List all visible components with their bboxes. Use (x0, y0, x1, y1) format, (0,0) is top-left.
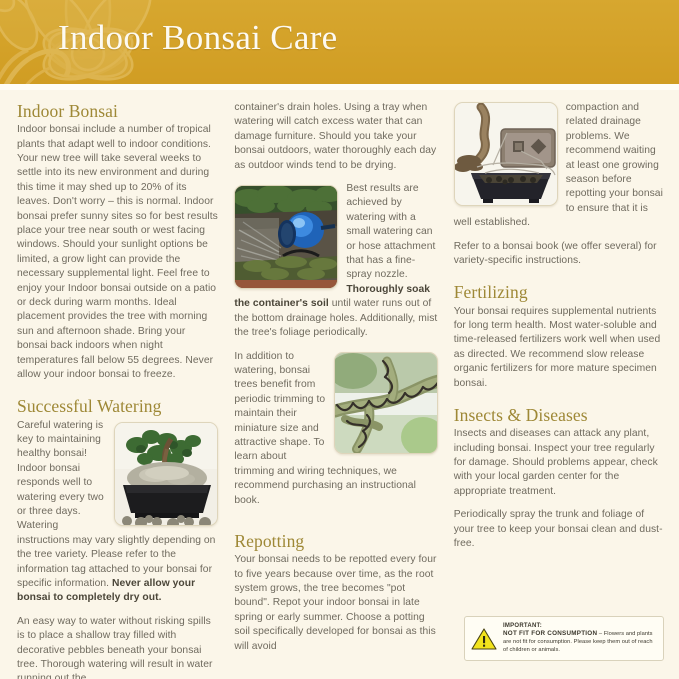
paragraph-indoor-bonsai: Indoor bonsai include a number of tropic… (17, 123, 218, 382)
heading-successful-watering: Successful Watering (17, 396, 218, 416)
paragraph-watering-tray: An easy way to water without risking spi… (17, 615, 218, 679)
bonsai-care-page: Indoor Bonsai Care Indoor Bonsai Indoor … (0, 0, 679, 679)
middle-column: container's drain holes. Using a tray wh… (234, 101, 437, 663)
paragraph-refer-book: Refer to a bonsai book (we offer several… (454, 240, 665, 269)
left-column: Indoor Bonsai Indoor bonsai include a nu… (17, 101, 218, 679)
photo-pot-drainage-diagram (454, 102, 558, 206)
heading-fertilizing: Fertilizing (454, 282, 665, 302)
heading-repotting: Repotting (234, 531, 437, 551)
page-header: Indoor Bonsai Care (0, 0, 679, 90)
paragraph-insects-2: Periodically spray the trunk and foliage… (454, 508, 665, 551)
watering-can-block: Best results are achieved by watering wi… (234, 182, 437, 349)
photo-wired-branch (334, 352, 438, 454)
heading-indoor-bonsai: Indoor Bonsai (17, 101, 218, 121)
page-content: Indoor Bonsai Indoor bonsai include a nu… (0, 90, 679, 679)
three-column-layout: Indoor Bonsai Indoor bonsai include a nu… (17, 101, 665, 679)
trimming-block: In addition to watering, bonsai trees be… (234, 350, 437, 517)
paragraph-drain-holes: container's drain holes. Using a tray wh… (234, 101, 437, 173)
paragraph-fertilizing: Your bonsai requires supplemental nutrie… (454, 305, 665, 391)
repotting-continued-block: compaction and related drainage problems… (454, 101, 665, 240)
paragraph-insects-1: Insects and diseases can attack any plan… (454, 427, 665, 499)
paragraph-repotting: Your bonsai needs to be repotted every f… (234, 553, 437, 654)
warning-text: IMPORTANT: NOT FIT FOR CONSUMPTION – Flo… (503, 623, 656, 654)
warning-line2-bold: NOT FIT FOR CONSUMPTION (503, 630, 597, 637)
photo-bonsai-in-pot (114, 422, 218, 526)
warning-box: IMPORTANT: NOT FIT FOR CONSUMPTION – Flo… (464, 616, 664, 661)
photo-watering-can (234, 185, 338, 289)
page-title: Indoor Bonsai Care (58, 18, 338, 58)
best-results-part1: Best results are achieved by watering wi… (346, 183, 435, 280)
warning-triangle-icon (471, 627, 497, 651)
right-column: compaction and related drainage problems… (454, 101, 665, 560)
warning-line1: IMPORTANT: (503, 623, 656, 631)
heading-insects-diseases: Insects & Diseases (454, 405, 665, 425)
watering-text-with-photo: Careful watering is key to maintaining h… (17, 419, 218, 615)
